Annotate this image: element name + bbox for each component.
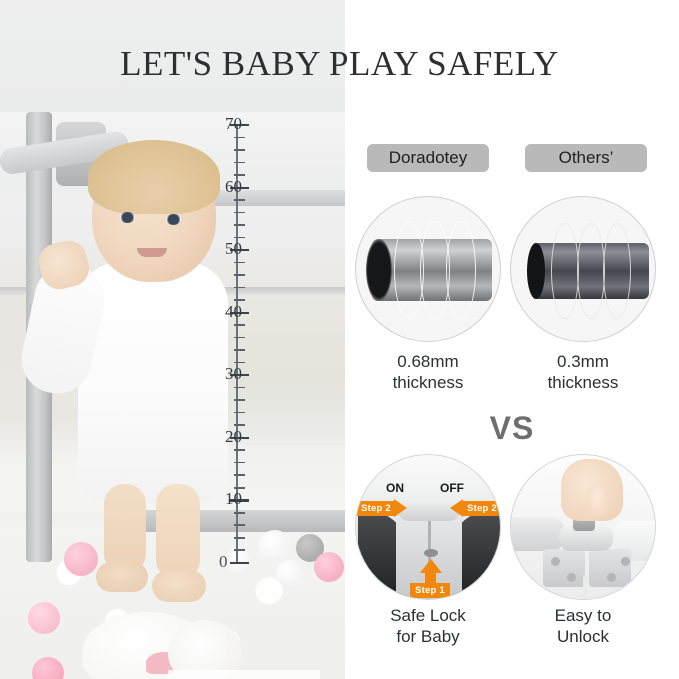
baby-eye-left	[120, 212, 135, 223]
lock-off-label: OFF	[440, 481, 464, 495]
hinge-screw	[567, 573, 576, 582]
thickness-word-doradotey: thickness	[353, 373, 503, 394]
step1-arrow-icon	[420, 559, 442, 573]
coil-ring	[603, 223, 631, 319]
ruler-tick-minor	[234, 287, 245, 289]
ruler-number: 10	[225, 489, 242, 509]
ruler-tick-minor	[234, 549, 245, 551]
coil-ring	[551, 223, 579, 319]
page-title: LET'S BABY PLAY SAFELY	[0, 44, 679, 84]
easy-unlock-caption: Easy to Unlock	[508, 606, 658, 647]
baby-mouth	[137, 248, 167, 257]
ruler-number: 50	[225, 239, 242, 259]
thickness-word-others: thickness	[508, 373, 658, 394]
hinge-screw	[621, 557, 630, 566]
baby-foot-right	[152, 570, 206, 602]
tube-image-others	[510, 196, 656, 342]
ruler-tick-minor	[234, 162, 245, 164]
step2-left-tag: Step 2	[356, 501, 396, 516]
thickness-label-others: 0.3mm thickness	[508, 352, 658, 393]
lock-release-slot	[424, 549, 438, 557]
hinge-plate-left	[543, 549, 585, 587]
right-feature-panel: Doradotey Others’ 0.68mm thickness 0.3mm…	[345, 112, 679, 679]
ruler-tick-minor	[234, 137, 245, 139]
ruler-tick-minor	[234, 399, 245, 401]
center-post	[583, 575, 587, 600]
ruler-tick-minor	[234, 299, 245, 301]
step2-left-arrow-icon	[394, 499, 407, 517]
ruler-number: 60	[225, 177, 242, 197]
step2-right-arrow-icon	[450, 499, 463, 517]
ruler-tick-minor	[234, 349, 245, 351]
tube-image-doradotey	[355, 196, 501, 342]
ruler-tick-minor	[234, 362, 245, 364]
step1-tag: Step 1	[410, 583, 450, 598]
ruler-tick-minor	[234, 199, 245, 201]
ruler-tick-minor	[234, 212, 245, 214]
playpen-rail-left	[510, 517, 565, 551]
easy-unlock-image	[510, 454, 656, 600]
step2-right-tag: Step 2	[462, 501, 501, 516]
coil-ring	[577, 223, 605, 319]
play-ball	[64, 542, 98, 576]
ruler-tick-minor	[234, 237, 245, 239]
tube-opening-thick	[366, 239, 392, 301]
ruler-tick-major	[230, 562, 249, 564]
ruler-tick-minor	[234, 524, 245, 526]
hinge-screw	[551, 557, 560, 566]
thickness-value-others: 0.3mm	[508, 352, 658, 373]
play-ball	[314, 552, 344, 582]
thickness-label-doradotey: 0.68mm thickness	[353, 352, 503, 393]
height-ruler: 706050403020100	[190, 112, 260, 572]
ruler-number: 0	[219, 552, 228, 572]
ruler-tick-minor	[234, 387, 245, 389]
easy-unlock-caption-line1: Easy to	[508, 606, 658, 627]
ruler-tick-minor	[234, 487, 245, 489]
ruler-number: 20	[225, 427, 242, 447]
baby-leg-left	[104, 484, 146, 574]
play-ball	[258, 530, 292, 564]
brand-tag-doradotey: Doradotey	[367, 144, 489, 172]
easy-unlock-caption-line2: Unlock	[508, 627, 658, 648]
ruler-number: 40	[225, 302, 242, 322]
ruler-tick-minor	[234, 337, 245, 339]
ruler-tick-minor	[234, 149, 245, 151]
brand-tag-others: Others’	[525, 144, 647, 172]
baby-foot-left	[96, 562, 148, 592]
ruler-tick-minor	[234, 174, 245, 176]
baby-playpen-photo: Safe Height 26.77in/68cm	[0, 112, 345, 679]
baby-eye-right	[166, 214, 181, 225]
ruler-tick-minor	[234, 449, 245, 451]
coil-ring	[446, 221, 476, 319]
lock-on-label: ON	[386, 481, 404, 495]
safe-lock-caption-line2: for Baby	[353, 627, 503, 648]
tube-opening-thin	[527, 243, 545, 299]
hinge-screw	[607, 573, 616, 582]
ruler-number: 30	[225, 364, 242, 384]
thickness-value-doradotey: 0.68mm	[353, 352, 503, 373]
ruler-number: 70	[225, 114, 242, 134]
ruler-tick-minor	[234, 412, 245, 414]
ruler-tick-minor	[234, 474, 245, 476]
safe-lock-image: ON OFF Step 2 Step 2 Step 1	[355, 454, 501, 600]
ruler-tick-minor	[234, 512, 245, 514]
ruler-tick-minor	[234, 537, 245, 539]
thumb	[587, 483, 611, 517]
ruler-tick-minor	[234, 462, 245, 464]
ruler-tick-minor	[234, 424, 245, 426]
safe-lock-caption-line1: Safe Lock	[353, 606, 503, 627]
safe-lock-caption: Safe Lock for Baby	[353, 606, 503, 647]
ruler-tick-minor	[234, 274, 245, 276]
safe-height-badge: Safe Height 26.77in/68cm	[168, 670, 320, 679]
ruler-tick-minor	[234, 262, 245, 264]
play-ball	[276, 560, 302, 586]
ruler-tick-minor	[234, 224, 245, 226]
infographic-page: LET'S BABY PLAY SAFELY	[0, 0, 679, 679]
vs-label: VS	[345, 410, 679, 447]
ruler-tick-minor	[234, 324, 245, 326]
play-ball	[28, 602, 60, 634]
